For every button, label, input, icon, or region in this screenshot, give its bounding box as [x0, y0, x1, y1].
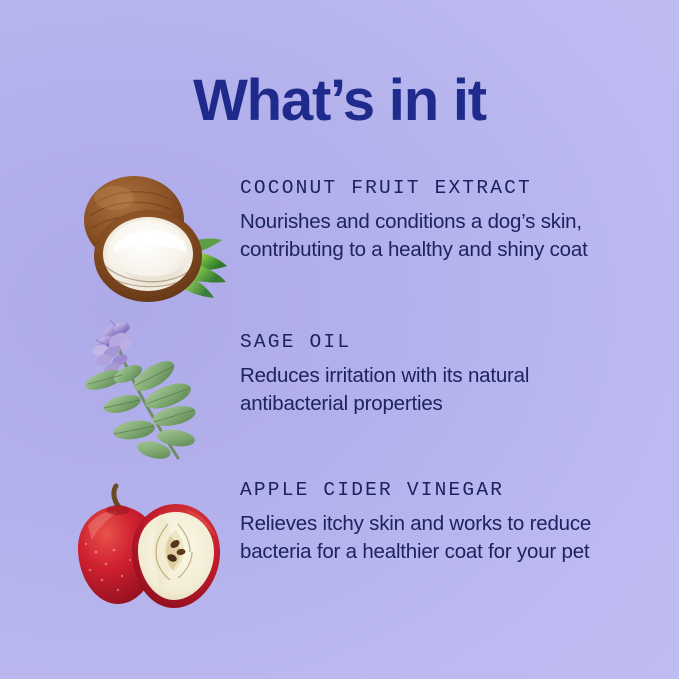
apple-text-cell: APPLE CIDER VINEGAR Relieves itchy skin …	[240, 466, 679, 565]
coconut-art-cell	[0, 164, 240, 314]
apple-illustration-icon	[60, 480, 230, 620]
ingredient-description: Relieves itchy skin and works to reduce …	[240, 510, 615, 565]
sage-sprig-illustration-icon	[82, 318, 212, 468]
ingredient-row-sage: SAGE OIL Reduces irritation with its nat…	[0, 318, 679, 468]
ingredient-description: Nourishes and conditions a dog’s skin, c…	[240, 208, 615, 263]
ingredient-name: COCONUT FRUIT EXTRACT	[240, 178, 679, 199]
ingredient-description: Reduces irritation with its natural anti…	[240, 362, 615, 417]
coconut-illustration-icon	[62, 168, 232, 318]
sage-text-cell: SAGE OIL Reduces irritation with its nat…	[240, 318, 679, 417]
apple-art-cell	[0, 466, 240, 616]
infographic-canvas: What’s in it	[0, 0, 679, 679]
ingredient-name: APPLE CIDER VINEGAR	[240, 480, 679, 501]
coconut-text-cell: COCONUT FRUIT EXTRACT Nourishes and cond…	[240, 164, 679, 263]
sage-art-cell	[0, 318, 240, 468]
ingredient-name: SAGE OIL	[240, 332, 679, 353]
ingredient-row-apple: APPLE CIDER VINEGAR Relieves itchy skin …	[0, 466, 679, 616]
ingredient-row-coconut: COCONUT FRUIT EXTRACT Nourishes and cond…	[0, 164, 679, 314]
sage-leaves	[83, 355, 198, 462]
page-title: What’s in it	[0, 72, 679, 130]
apple-half	[132, 504, 220, 608]
